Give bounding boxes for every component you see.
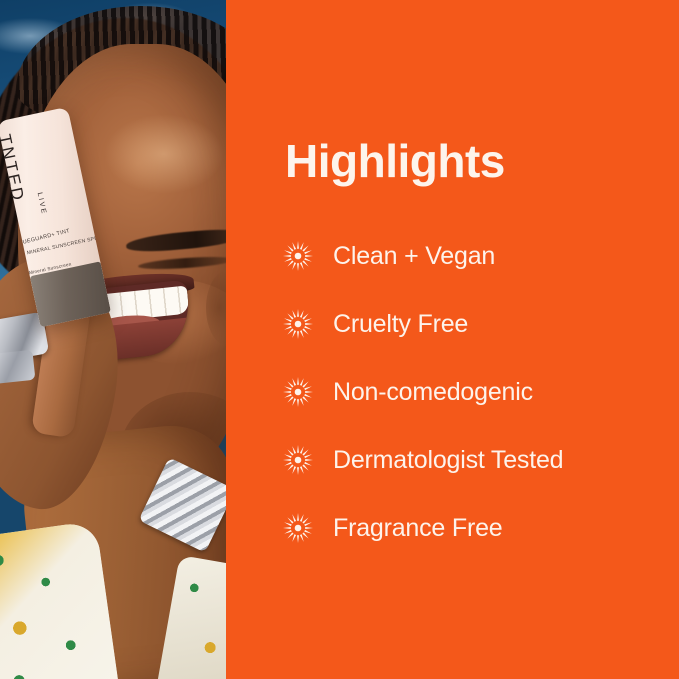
highlight-label: Non-comedogenic [333, 380, 533, 405]
sunburst-icon [283, 445, 313, 475]
tube-sub-brand: LIVE [36, 192, 48, 216]
sunburst-icon [283, 241, 313, 271]
sunburst-icon [283, 513, 313, 543]
eyebrow [125, 227, 228, 254]
highlight-label: Fragrance Free [333, 516, 503, 541]
highlight-label: Dermatologist Tested [333, 448, 563, 473]
highlights-list: Clean + Vegan [283, 222, 673, 562]
highlight-label: Cruelty Free [333, 312, 468, 337]
sunburst-icon [283, 377, 313, 407]
model-photo: TNTED LIVE HUEGUARD+ TINT MINERAL SUNSCR… [0, 0, 228, 679]
list-item: Non-comedogenic [283, 358, 673, 426]
closed-eye [138, 255, 228, 272]
forehead-highlight [104, 114, 224, 194]
list-item: Clean + Vegan [283, 222, 673, 290]
list-item: Fragrance Free [283, 494, 673, 562]
list-item: Dermatologist Tested [283, 426, 673, 494]
silver-ring-secondary [0, 350, 35, 384]
sunburst-icon [283, 309, 313, 339]
list-item: Cruelty Free [283, 290, 673, 358]
product-highlight-graphic: TNTED LIVE HUEGUARD+ TINT MINERAL SUNSCR… [0, 0, 679, 679]
highlights-panel: Highlights [228, 0, 679, 679]
page-title: Highlights [285, 138, 505, 184]
highlight-label: Clean + Vegan [333, 244, 495, 269]
